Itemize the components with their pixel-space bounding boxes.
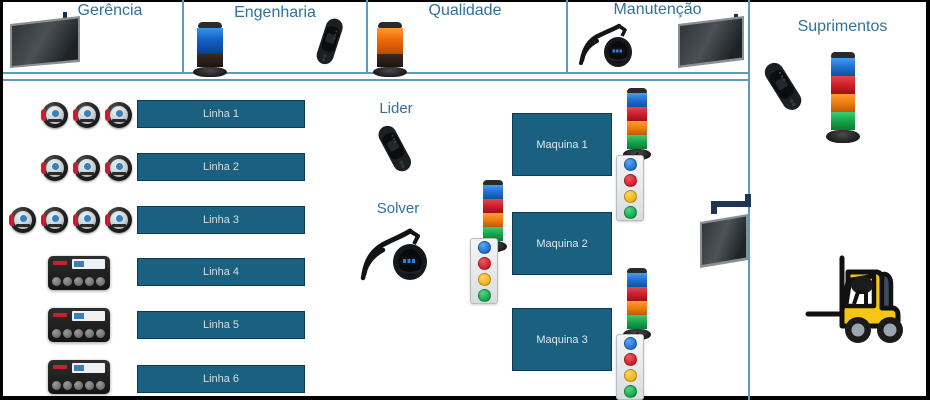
factory-layout-diagram: Gerência Engenharia Qualidade Manutenção…: [0, 0, 930, 400]
divider-engenharia-qualidade: [366, 0, 368, 72]
control-button-red[interactable]: [478, 257, 491, 270]
blue-tower-light-engenharia: [192, 22, 228, 77]
tower-segment-orange: [483, 213, 503, 227]
keypad-button-row[interactable]: [52, 277, 105, 286]
control-button-blue[interactable]: [624, 337, 637, 350]
puck-brand-bar: [112, 119, 126, 122]
tv-monitor-gerencia: [8, 12, 86, 70]
puck-face: [78, 211, 96, 229]
tower-segment-red: [627, 287, 647, 301]
puck-indicator: [52, 215, 59, 222]
tv-monitor-manutencao: [676, 14, 750, 72]
role-label-solver: Solver: [358, 200, 438, 217]
puck-brand-bar: [16, 224, 30, 227]
puck-face: [110, 159, 128, 177]
machine-box[interactable]: Maquina 1: [512, 113, 612, 176]
dept-label-qualidade: Qualidade: [375, 2, 555, 20]
puck-face: [110, 211, 128, 229]
keypad-led: [53, 365, 67, 369]
tower-segment-red: [483, 199, 503, 213]
keypad-button[interactable]: [52, 329, 61, 338]
keypad-button[interactable]: [63, 329, 72, 338]
forklift-icon: [800, 252, 914, 350]
call-button-puck[interactable]: [74, 102, 100, 128]
beacon-housing: [197, 54, 223, 67]
control-button-blue[interactable]: [478, 241, 491, 254]
puck-face: [14, 211, 32, 229]
production-line-box[interactable]: Linha 4: [137, 258, 305, 286]
puck-brand-bar: [112, 172, 126, 175]
beacon-base: [193, 67, 227, 77]
keypad-brand-label: [72, 363, 105, 373]
role-label-lider: Lider: [360, 100, 432, 117]
andon-keypad[interactable]: [48, 360, 110, 394]
puck-indicator: [116, 163, 123, 170]
production-line-box[interactable]: Linha 1: [137, 100, 305, 128]
production-line-box[interactable]: Linha 6: [137, 365, 305, 393]
keypad-button[interactable]: [52, 277, 61, 286]
smartwatch-suprimentos: [758, 58, 810, 116]
keypad-button[interactable]: [85, 381, 94, 390]
puck-indicator: [52, 163, 59, 170]
main-top-divider: [3, 79, 748, 81]
puck-indicator: [52, 110, 59, 117]
puck-brand-bar: [80, 119, 94, 122]
control-button-yellow[interactable]: [624, 190, 637, 203]
call-button-puck[interactable]: [42, 102, 68, 128]
call-button-puck[interactable]: [106, 207, 132, 233]
puck-brand-bar: [48, 119, 62, 122]
puck-brand-bar: [112, 224, 126, 227]
tower-segment-green: [627, 315, 647, 329]
control-button-green[interactable]: [624, 206, 637, 219]
production-line-box[interactable]: Linha 3: [137, 206, 305, 234]
call-button-puck[interactable]: [106, 155, 132, 181]
call-button-puck[interactable]: [42, 155, 68, 181]
keypad-button[interactable]: [96, 277, 105, 286]
puck-face: [46, 106, 64, 124]
puck-face: [46, 211, 64, 229]
tower-light-machine-3: [622, 268, 652, 340]
call-button-puck[interactable]: [10, 207, 36, 233]
puck-face: [46, 159, 64, 177]
control-button-yellow[interactable]: [624, 369, 637, 382]
puck-indicator: [20, 215, 27, 222]
keypad-button[interactable]: [96, 329, 105, 338]
tower-segment-green: [627, 135, 647, 149]
keypad-button[interactable]: [52, 381, 61, 390]
pager-fob-manutencao: [578, 20, 644, 70]
control-button-red[interactable]: [624, 353, 637, 366]
keypad-led: [53, 261, 67, 265]
tower-base: [826, 130, 860, 143]
keypad-button[interactable]: [74, 381, 83, 390]
puck-face: [78, 106, 96, 124]
puck-brand-bar: [80, 172, 94, 175]
puck-brand-bar: [48, 172, 62, 175]
tower-segment-green: [831, 112, 855, 130]
andon-keypad[interactable]: [48, 308, 110, 342]
beacon-base: [373, 67, 407, 77]
tower-segment-red: [831, 76, 855, 94]
beacon-lens-orange: [377, 28, 403, 54]
frame-edge-left: [0, 0, 3, 400]
keypad-brand-label: [72, 311, 105, 321]
beacon-lens-blue: [197, 28, 223, 54]
control-button-red[interactable]: [624, 174, 637, 187]
control-button-box-machine-1[interactable]: [616, 155, 644, 221]
puck-face: [78, 159, 96, 177]
tower-segment-blue: [483, 185, 503, 199]
control-button-yellow[interactable]: [478, 273, 491, 286]
puck-indicator: [84, 110, 91, 117]
frame-edge-right: [926, 0, 930, 400]
control-button-box-machine-3[interactable]: [616, 334, 644, 400]
control-button-green[interactable]: [624, 385, 637, 398]
tower-segment-orange: [627, 301, 647, 315]
smartwatch-engenharia: [308, 16, 352, 68]
puck-face: [110, 106, 128, 124]
keypad-button-row[interactable]: [52, 381, 105, 390]
frame-edge-bottom: [0, 396, 930, 400]
beacon-housing: [377, 54, 403, 67]
control-button-box-left[interactable]: [470, 238, 498, 304]
smartwatch-lider: [370, 122, 420, 176]
keypad-button[interactable]: [63, 381, 72, 390]
tower-segment-orange: [627, 121, 647, 135]
puck-brand-bar: [48, 224, 62, 227]
divider-gerencia-engenharia: [182, 0, 184, 72]
puck-brand-bar: [80, 224, 94, 227]
machine-box[interactable]: Maquina 3: [512, 308, 612, 371]
call-button-puck[interactable]: [106, 102, 132, 128]
production-line-box[interactable]: Linha 5: [137, 311, 305, 339]
keypad-brand-label: [72, 259, 105, 269]
tower-segment-blue: [831, 58, 855, 76]
tower-segment-orange: [831, 94, 855, 112]
dept-label-suprimentos: Suprimentos: [760, 18, 925, 36]
control-button-green[interactable]: [478, 289, 491, 302]
call-button-puck[interactable]: [42, 207, 68, 233]
machine-box[interactable]: Maquina 2: [512, 212, 612, 275]
tower-light-machine-1: [622, 88, 652, 160]
keypad-button-row[interactable]: [52, 329, 105, 338]
keypad-button[interactable]: [85, 329, 94, 338]
puck-indicator: [116, 215, 123, 222]
keypad-button[interactable]: [63, 277, 72, 286]
tower-segment-blue: [627, 93, 647, 107]
pager-fob-solver: [358, 226, 442, 284]
keypad-button[interactable]: [74, 277, 83, 286]
puck-indicator: [84, 215, 91, 222]
puck-indicator: [116, 110, 123, 117]
andon-keypad[interactable]: [48, 256, 110, 290]
call-button-puck[interactable]: [74, 207, 100, 233]
tower-segment-blue: [627, 273, 647, 287]
orange-beacon-qualidade: [372, 22, 408, 77]
tower-light-suprimentos: [826, 52, 860, 143]
keypad-led: [53, 313, 67, 317]
puck-indicator: [84, 163, 91, 170]
keypad-button[interactable]: [96, 381, 105, 390]
tv-monitor-floor: [698, 192, 764, 268]
control-button-blue[interactable]: [624, 158, 637, 171]
divider-qualidade-manutencao: [566, 0, 568, 72]
keypad-button[interactable]: [85, 277, 94, 286]
tower-segment-red: [627, 107, 647, 121]
call-button-puck[interactable]: [74, 155, 100, 181]
keypad-button[interactable]: [74, 329, 83, 338]
production-line-box[interactable]: Linha 2: [137, 153, 305, 181]
